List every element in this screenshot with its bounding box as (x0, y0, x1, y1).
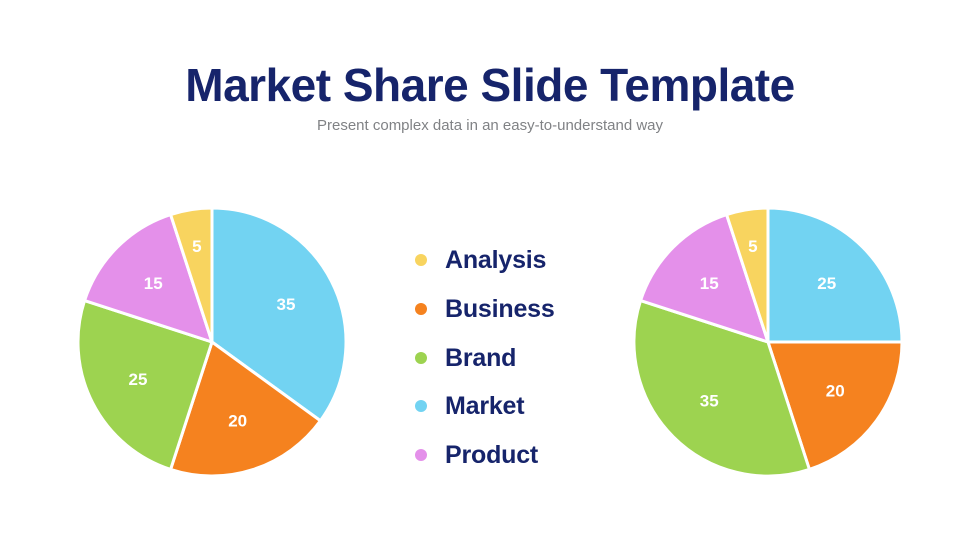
legend-item-label: Market (445, 392, 524, 420)
right-pie-chart[interactable]: 252035155 (634, 208, 902, 476)
legend-item-label: Product (445, 441, 538, 469)
pie-slice-value-label: 5 (748, 237, 757, 256)
left-pie-svg: 352025155 (78, 208, 346, 476)
legend-item-market[interactable]: Market (415, 382, 585, 431)
legend-dot-icon (415, 254, 427, 266)
pie-slice-value-label: 5 (192, 237, 201, 256)
left-pie-chart[interactable]: 352025155 (78, 208, 346, 476)
legend-item-label: Brand (445, 344, 516, 372)
legend-item-label: Analysis (445, 246, 546, 274)
pie-slice-value-label: 25 (817, 274, 836, 293)
legend-item-label: Business (445, 295, 555, 323)
slide-canvas: Market Share Slide Template Present comp… (0, 0, 980, 551)
legend-dot-icon (415, 400, 427, 412)
legend-dot-icon (415, 352, 427, 364)
legend-dot-icon (415, 303, 427, 315)
right-pie-svg: 252035155 (634, 208, 902, 476)
pie-slice-value-label: 20 (826, 381, 845, 400)
legend: AnalysisBusinessBrandMarketProduct (415, 236, 585, 479)
legend-item-business[interactable]: Business (415, 285, 585, 334)
pie-slice-value-label: 25 (129, 370, 148, 389)
legend-item-analysis[interactable]: Analysis (415, 236, 585, 285)
pie-slice-value-label: 20 (228, 412, 247, 431)
legend-item-brand[interactable]: Brand (415, 333, 585, 382)
pie-slice-value-label: 15 (144, 274, 163, 293)
pie-slice-value-label: 15 (700, 274, 719, 293)
pie-slice-value-label: 35 (277, 295, 296, 314)
pie-slice-value-label: 35 (700, 391, 719, 410)
legend-dot-icon (415, 449, 427, 461)
charts-area: 352025155 AnalysisBusinessBrandMarketPro… (0, 0, 980, 551)
legend-item-product[interactable]: Product (415, 431, 585, 480)
